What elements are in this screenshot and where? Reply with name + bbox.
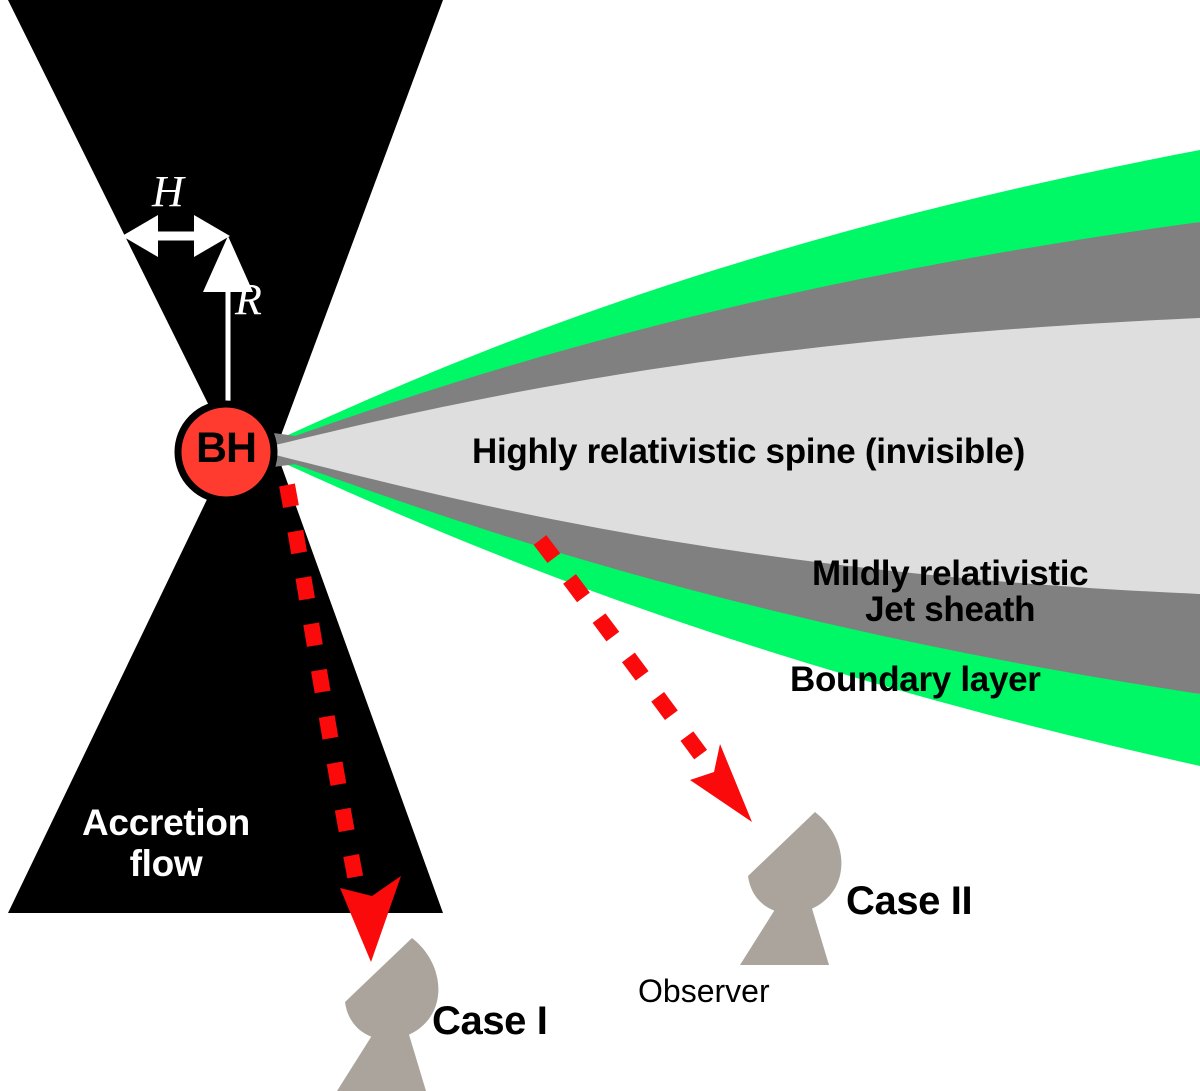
- accretion-flow-label: Accretionflow: [82, 802, 250, 885]
- observer-caption: Observer: [638, 975, 770, 1008]
- height-label: H: [152, 170, 184, 215]
- accretion-flow-label-line1: Accretion: [82, 802, 250, 843]
- jet-spine-label: Highly relativistic spine (invisible): [472, 434, 1025, 470]
- radius-label: R: [235, 278, 262, 323]
- accretion-flow-label-line2: flow: [130, 843, 203, 884]
- antenna-case-2[interactable]: [740, 812, 841, 965]
- jet-boundary-layer-label: Boundary layer: [790, 662, 1041, 698]
- jet-sheath-label-line1: Mildly relativistic: [812, 554, 1088, 593]
- scene-svg: [0, 0, 1200, 1091]
- observer-case-1-label: Case I: [432, 1001, 547, 1042]
- antenna-case-1[interactable]: [337, 938, 438, 1091]
- observer-case-2-label: Case II: [846, 881, 972, 922]
- diagram-canvas: BH H R Highly relativistic spine (invisi…: [0, 0, 1200, 1091]
- jet-sheath-label-line2: Jet sheath: [865, 590, 1035, 629]
- jet-sheath-label: Mildly relativisticJet sheath: [812, 556, 1088, 627]
- black-hole-label: BH: [176, 427, 276, 471]
